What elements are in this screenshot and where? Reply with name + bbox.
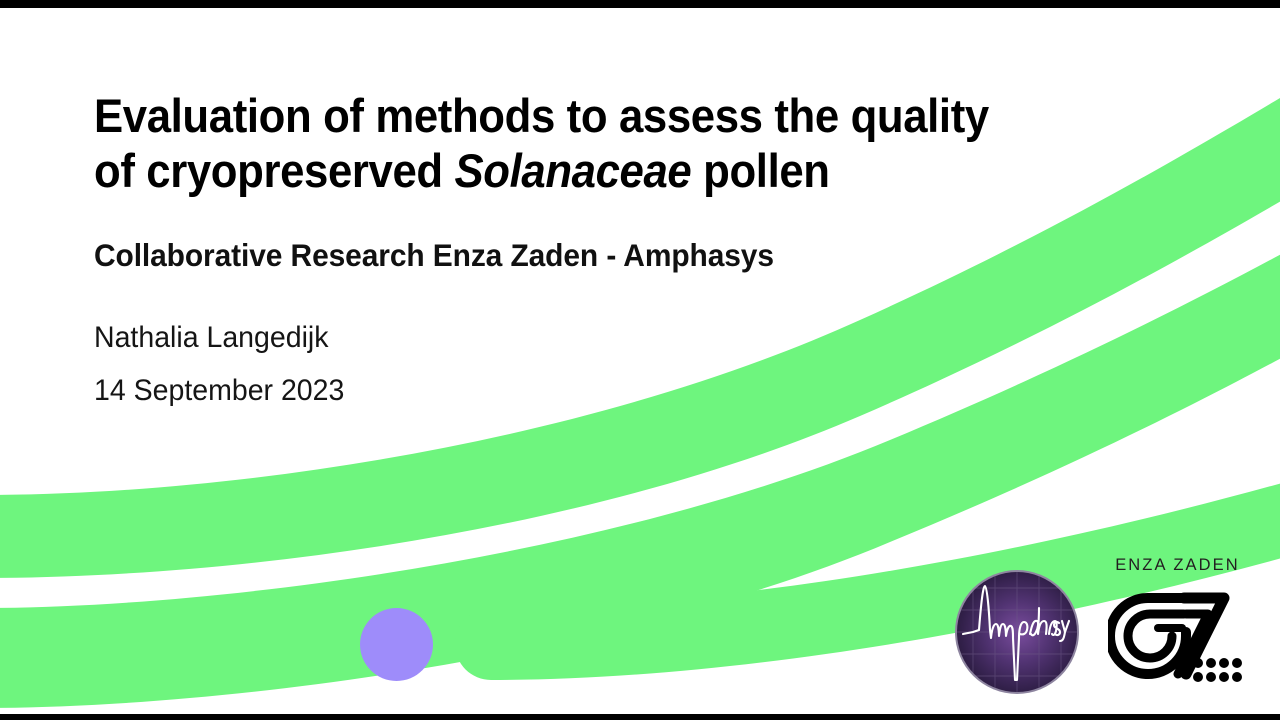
enza-zaden-logo: ENZA ZADEN: [1100, 550, 1255, 698]
slide-text-block: Evaluation of methods to assess the qual…: [94, 88, 1184, 417]
slide-subtitle: Collaborative Research Enza Zaden - Amph…: [94, 237, 1130, 275]
presenter-name: Nathalia Langedijk: [94, 311, 1130, 364]
presentation-date: 14 September 2023: [94, 364, 1130, 417]
slide-title-line-2-prefix: of cryopreserved: [94, 144, 455, 197]
slide-title-line-1: Evaluation of methods to assess the qual…: [94, 89, 989, 142]
letterbox-bottom: [0, 714, 1280, 720]
slide-title: Evaluation of methods to assess the qual…: [94, 88, 1103, 199]
amphasys-logo: [953, 568, 1081, 696]
enza-zaden-wordmark: ENZA ZADEN: [1100, 556, 1255, 575]
presentation-slide: Evaluation of methods to assess the qual…: [0, 0, 1280, 720]
logo-row: ENZA ZADEN: [945, 550, 1265, 700]
enza-zaden-monogram-icon: [1108, 582, 1248, 694]
slide-title-species-italic: Solanaceae: [455, 144, 692, 197]
presenter-block: Nathalia Langedijk 14 September 2023: [94, 311, 1184, 418]
slide-title-line-2-suffix: pollen: [691, 144, 829, 197]
letterbox-top: [0, 0, 1280, 8]
slide-canvas: Evaluation of methods to assess the qual…: [0, 8, 1280, 714]
purple-dot-decoration: [360, 608, 433, 681]
